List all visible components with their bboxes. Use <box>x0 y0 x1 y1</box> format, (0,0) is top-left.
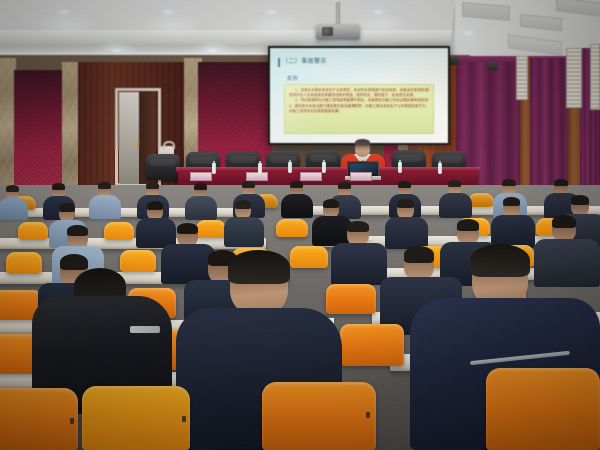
downlight <box>462 30 475 36</box>
nameplate <box>350 172 372 181</box>
slide-body-line: 对施工现场存在的事故隐患失察。 <box>289 109 429 114</box>
attendee-hair <box>554 179 568 186</box>
attendee-hair <box>177 223 198 234</box>
audience-seat[interactable] <box>340 324 404 366</box>
attendee-hair <box>228 250 290 284</box>
downlight <box>162 9 175 15</box>
executive-chair[interactable] <box>146 154 180 180</box>
window-blind[interactable] <box>590 44 600 110</box>
light-pool <box>244 12 306 38</box>
water-bottle <box>258 163 262 174</box>
seat-hinge <box>70 418 74 424</box>
audience-seat-empty[interactable] <box>0 388 78 450</box>
attendee-hair <box>502 179 516 186</box>
attendee-hair <box>147 201 163 210</box>
slide-title-bar: （二）事故警示 <box>278 58 336 67</box>
attendee-body <box>312 216 352 246</box>
crimson-wall-panel <box>14 70 66 194</box>
door-knob-icon[interactable] <box>134 142 139 147</box>
attendee-hair <box>52 183 65 190</box>
light-pool <box>352 12 408 36</box>
slide-subtitle: 案例 <box>287 75 298 82</box>
nameplate <box>190 172 212 181</box>
attendee-hair <box>571 195 589 205</box>
window-blind[interactable] <box>516 56 528 100</box>
attendee-hair <box>338 182 351 189</box>
attendee-body <box>224 217 264 247</box>
attendee-hair <box>194 183 207 190</box>
attendee-hair <box>323 199 339 208</box>
audience-seat[interactable] <box>326 284 376 314</box>
audience-seat-empty[interactable] <box>486 368 600 450</box>
downlight <box>110 48 123 54</box>
attendee-hair <box>67 225 88 236</box>
water-bottle <box>438 163 442 174</box>
attendee-hair <box>242 181 255 188</box>
audience-seat-empty[interactable] <box>262 382 376 450</box>
attendee-body <box>89 195 121 219</box>
attendee-body <box>185 196 217 220</box>
attendee-hair <box>448 180 461 187</box>
wall-speaker <box>487 62 498 70</box>
slide-title-accent-icon <box>278 58 280 67</box>
light-pool <box>140 12 202 38</box>
attendee-hair <box>146 182 159 189</box>
attendee-hair <box>60 254 88 270</box>
slide-content-box: 1、该单位未落实安全生产主体责任，未对作业现场进行安全检查，未能及时发现和消除事… <box>284 84 434 134</box>
audience-seat[interactable] <box>120 250 156 272</box>
downlight <box>58 9 71 15</box>
attendee-body <box>385 217 428 249</box>
seat-hinge <box>182 416 186 422</box>
attendee-hair <box>290 181 303 188</box>
attendee-hair <box>404 246 434 263</box>
audience-seat[interactable] <box>104 222 134 240</box>
jacket-logo <box>130 326 160 333</box>
attendee-body <box>281 194 313 218</box>
attendee-hair <box>398 181 411 188</box>
attendee-hair <box>457 219 479 231</box>
audience-seat[interactable] <box>276 219 308 237</box>
downlight <box>206 48 219 54</box>
attendee-hair <box>397 199 414 208</box>
downlight <box>265 9 278 15</box>
audience-seat[interactable] <box>6 252 42 274</box>
projection-screen: （二）事故警示 案例 1、该单位未落实安全生产主体责任，未对作业现场进行安全检查… <box>270 48 448 143</box>
water-bottle <box>212 163 216 174</box>
water-bottle <box>288 162 292 173</box>
water-bottle <box>322 162 326 173</box>
attendee-hair <box>59 203 75 212</box>
attendee-hair <box>347 221 369 232</box>
audience-seat[interactable] <box>290 246 328 268</box>
presenter-hair <box>355 139 370 146</box>
window-blind[interactable] <box>566 48 582 108</box>
wall-speaker <box>450 58 459 65</box>
attendee-body <box>331 243 387 285</box>
attendee-body <box>439 193 472 218</box>
downlight <box>372 9 385 15</box>
attendee-hair <box>98 182 111 189</box>
nameplate <box>246 172 268 181</box>
slide-title: （二）事故警示 <box>282 58 327 67</box>
audience-seat[interactable] <box>18 222 48 240</box>
conference-room-photo: （二）事故警示 案例 1、该单位未落实安全生产主体责任，未对作业现场进行安全检查… <box>0 0 600 450</box>
attendee-hair <box>470 244 530 277</box>
attendee-body <box>534 239 600 287</box>
attendee-hair <box>552 215 576 228</box>
attendee-hair <box>235 200 251 209</box>
light-pool <box>36 12 98 38</box>
attendee-body <box>161 244 215 284</box>
attendee-body <box>0 198 28 220</box>
projector-lens <box>322 27 333 36</box>
attendee-hair <box>6 185 19 192</box>
audience-seat[interactable] <box>196 220 226 238</box>
audience-seat-empty[interactable] <box>82 386 190 450</box>
seat-hinge <box>366 412 370 418</box>
water-bottle <box>398 162 402 173</box>
attendee-hair <box>503 197 520 206</box>
nameplate <box>300 172 322 181</box>
